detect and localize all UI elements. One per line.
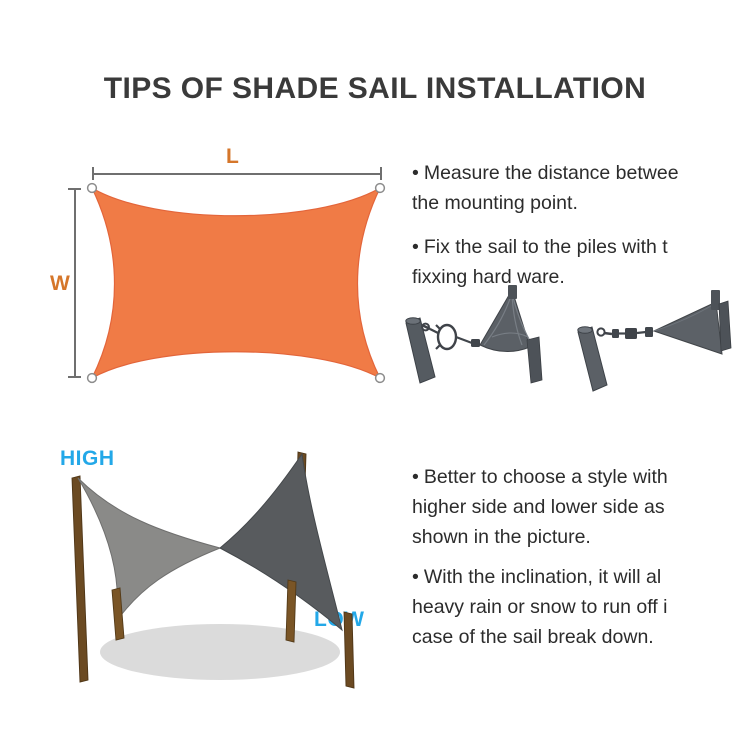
- bullet-icon: •: [412, 158, 419, 188]
- tip-inclination-line1: With the inclination, it will al: [424, 566, 661, 588]
- scene-svg: [30, 440, 410, 700]
- bullet-icon: •: [412, 562, 419, 592]
- strap-right: [719, 301, 731, 351]
- grommet-bottom-right: [376, 374, 385, 383]
- post-low-right: [344, 612, 354, 688]
- post-mid: [286, 580, 296, 642]
- tip-measure-line1: Measure the distance betwee: [424, 162, 679, 184]
- tip-style-line3: shown in the picture.: [412, 522, 668, 552]
- carabiner-icon: [422, 324, 438, 333]
- tip-inclination-line3: case of the sail break down.: [412, 622, 667, 652]
- ground-shadow: [100, 624, 340, 680]
- hardware-diagram-left: [400, 285, 590, 395]
- strap-bottom-right: [527, 337, 542, 383]
- tip-style-line2: higher side and lower side as: [412, 492, 668, 522]
- carabiner-icon: [597, 328, 612, 335]
- sail-dark-gray: [220, 454, 342, 630]
- grommet-top-right: [376, 184, 385, 193]
- post-high-left: [72, 476, 88, 682]
- grommet-top-left: [88, 184, 97, 193]
- sail-corner-plate-icon: [480, 290, 530, 352]
- high-low-scene-diagram: HIGH LOW: [30, 440, 410, 700]
- bullet-icon: •: [412, 232, 419, 262]
- sail-light-gray: [78, 478, 220, 622]
- orange-sail-body: [92, 188, 380, 378]
- infographic-canvas: TIPS OF SHADE SAIL INSTALLATION L W: [0, 0, 750, 750]
- grommet-bottom-left: [88, 374, 97, 383]
- tip-fix-line1: Fix the sail to the piles with t: [424, 236, 668, 258]
- tip-measure-line2: the mounting point.: [412, 188, 679, 218]
- hardware-diagram-right: [570, 282, 750, 392]
- post-icon: [578, 327, 607, 391]
- tip-measure-text: •Measure the distance betwee the mountin…: [412, 158, 679, 218]
- orange-sail-svg: [60, 140, 400, 405]
- tip-inclination-text: •With the inclination, it will al heavy …: [412, 562, 667, 652]
- tip-style-text: •Better to choose a style with higher si…: [412, 462, 668, 552]
- rectangular-sail-diagram: L W: [60, 140, 400, 405]
- strap-top: [711, 290, 720, 310]
- turnbuckle-icon: [612, 327, 653, 339]
- page-title: TIPS OF SHADE SAIL INSTALLATION: [0, 72, 750, 106]
- tip-style-line1: Better to choose a style with: [424, 466, 668, 488]
- post-icon: [406, 318, 435, 383]
- tip-inclination-line2: heavy rain or snow to run off i: [412, 592, 667, 622]
- bullet-icon: •: [412, 462, 419, 492]
- strap-top: [508, 285, 517, 299]
- turnbuckle-icon: [436, 325, 480, 349]
